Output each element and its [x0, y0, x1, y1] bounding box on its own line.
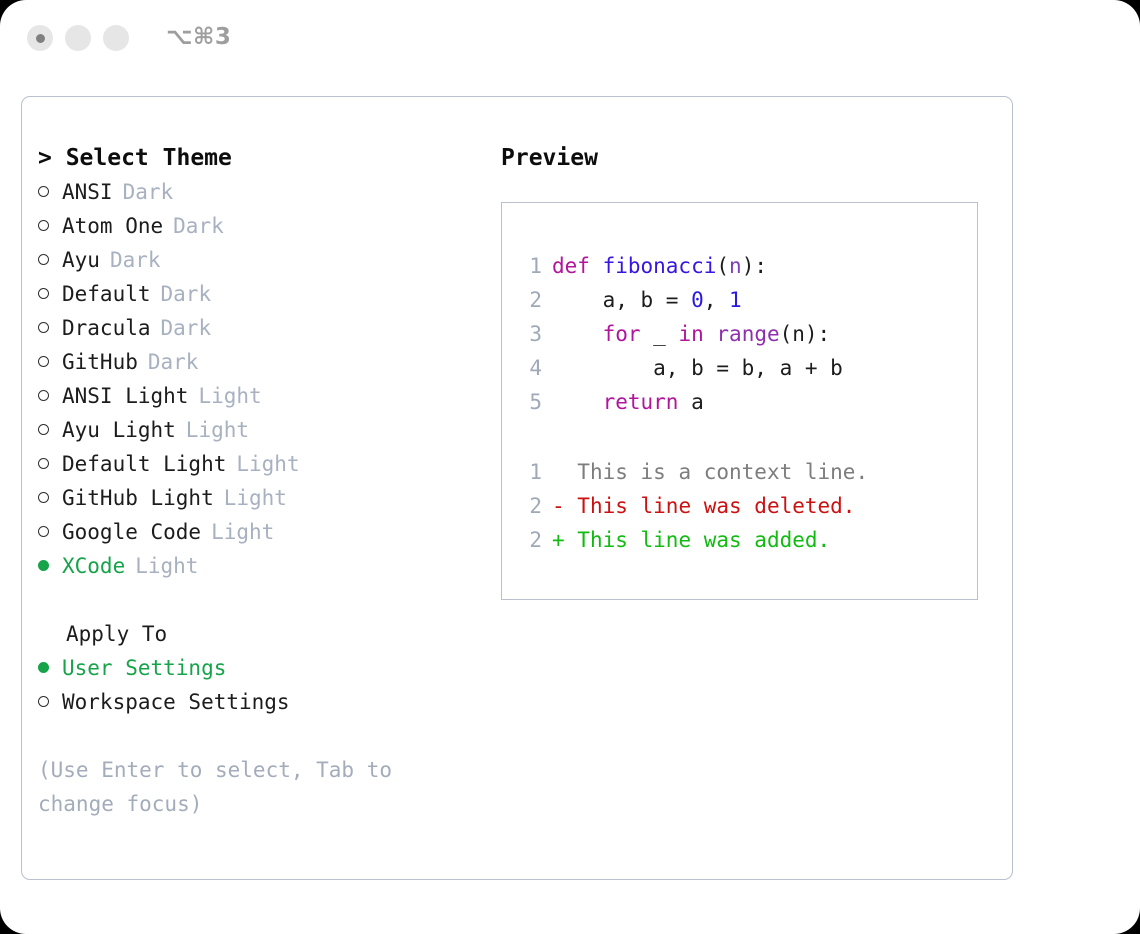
code-line-number: 2: [516, 283, 542, 317]
radio-dot: [38, 696, 49, 707]
diff-line-number: 2: [516, 489, 542, 523]
radio-dot: [38, 390, 49, 401]
code-line: 2 a, b = 0, 1: [516, 283, 969, 317]
diff-line-text: This is a context line.: [577, 455, 868, 489]
diff-line-text: This line was added.: [577, 523, 830, 557]
preview-header: Preview: [501, 141, 1001, 175]
window-dot-active-icon[interactable]: [27, 25, 53, 51]
theme-list-item[interactable]: ANSI LightLight: [38, 379, 478, 413]
list-spacer: [38, 583, 478, 617]
theme-list-item[interactable]: ANSIDark: [38, 175, 478, 209]
radio-unselected-icon: [38, 277, 62, 311]
theme-list-item[interactable]: GitHubDark: [38, 345, 478, 379]
theme-list-item[interactable]: Default LightLight: [38, 447, 478, 481]
code-line-text: def fibonacci(n):: [552, 249, 767, 283]
radio-dot: [38, 662, 49, 673]
hint-spacer: [38, 719, 478, 753]
theme-kind-badge: Light: [198, 379, 261, 413]
theme-name: XCode: [62, 549, 125, 583]
theme-kind-badge: Dark: [110, 243, 161, 277]
apply-to-list: User SettingsWorkspace Settings: [38, 651, 478, 719]
code-sample: 1def fibonacci(n):2 a, b = 0, 13 for _ i…: [516, 249, 969, 419]
radio-dot: [38, 186, 49, 197]
code-token-plain: ,: [704, 288, 729, 312]
radio-unselected-icon: [38, 685, 62, 719]
code-token-plain: (n):: [780, 322, 831, 346]
code-token-plain: [552, 390, 603, 414]
diff-marker: -: [552, 489, 577, 523]
apply-to-option[interactable]: Workspace Settings: [38, 685, 478, 719]
code-token-num: 0: [691, 288, 704, 312]
code-token-kw: in: [678, 322, 703, 346]
code-token-param: n: [729, 254, 742, 278]
select-theme-header: > Select Theme: [38, 141, 478, 175]
radio-unselected-icon: [38, 175, 62, 209]
radio-dot: [38, 560, 49, 571]
preview-box: 1def fibonacci(n):2 a, b = 0, 13 for _ i…: [501, 202, 978, 600]
theme-name: Google Code: [62, 515, 201, 549]
main-panel: > Select Theme ANSIDarkAtom OneDarkAyuDa…: [21, 96, 1013, 880]
theme-list-item[interactable]: AyuDark: [38, 243, 478, 277]
diff-line: 2- This line was deleted.: [516, 489, 969, 523]
code-token-plain: a: [678, 390, 703, 414]
apply-to-header: Apply To: [38, 617, 478, 651]
apply-to-option[interactable]: User Settings: [38, 651, 478, 685]
window-dot-third-icon[interactable]: [103, 25, 129, 51]
code-line-text: for _ in range(n):: [552, 317, 830, 351]
theme-name: Atom One: [62, 209, 163, 243]
radio-dot: [38, 356, 49, 367]
theme-kind-badge: Light: [236, 447, 299, 481]
theme-kind-badge: Dark: [161, 311, 212, 345]
radio-dot: [38, 254, 49, 265]
radio-unselected-icon: [38, 481, 62, 515]
theme-list-item[interactable]: Ayu LightLight: [38, 413, 478, 447]
theme-name: Ayu Light: [62, 413, 176, 447]
theme-kind-badge: Dark: [173, 209, 224, 243]
code-token-plain: a, b = b, a + b: [552, 356, 843, 380]
theme-kind-badge: Light: [135, 549, 198, 583]
theme-list-item[interactable]: Google CodeLight: [38, 515, 478, 549]
diff-sample: 1 This is a context line.2- This line wa…: [516, 455, 969, 557]
diff-line-number: 1: [516, 455, 542, 489]
radio-unselected-icon: [38, 345, 62, 379]
radio-unselected-icon: [38, 243, 62, 277]
code-token-plain: a, b =: [552, 288, 691, 312]
theme-name: GitHub: [62, 345, 138, 379]
code-token-builtin: range: [716, 322, 779, 346]
diff-line-text: This line was deleted.: [577, 489, 855, 523]
theme-kind-badge: Dark: [148, 345, 199, 379]
code-token-plain: _: [641, 322, 679, 346]
theme-list-item[interactable]: XCodeLight: [38, 549, 478, 583]
diff-line: 1 This is a context line.: [516, 455, 969, 489]
theme-name: Ayu: [62, 243, 100, 277]
radio-dot: [38, 526, 49, 537]
diff-line-number: 2: [516, 523, 542, 557]
code-token-fn: fibonacci: [603, 254, 717, 278]
radio-unselected-icon: [38, 311, 62, 345]
radio-dot: [38, 424, 49, 435]
code-token-kw: return: [603, 390, 679, 414]
theme-kind-badge: Light: [186, 413, 249, 447]
code-line: 1def fibonacci(n):: [516, 249, 969, 283]
window-controls: [27, 25, 129, 51]
theme-list-item[interactable]: Atom OneDark: [38, 209, 478, 243]
radio-dot: [38, 458, 49, 469]
code-token-plain: ):: [742, 254, 767, 278]
code-token-kw: for: [603, 322, 641, 346]
theme-kind-badge: Light: [211, 515, 274, 549]
theme-name: Default Light: [62, 447, 226, 481]
app-window: ⌥⌘3 > Select Theme ANSIDarkAtom OneDarkA…: [0, 0, 1140, 934]
window-dot-second-icon[interactable]: [65, 25, 91, 51]
code-line-number: 5: [516, 385, 542, 419]
code-line-number: 1: [516, 249, 542, 283]
code-line: 5 return a: [516, 385, 969, 419]
theme-name: Default: [62, 277, 151, 311]
diff-marker: +: [552, 523, 577, 557]
preview-column: Preview 1def fibonacci(n):2 a, b = 0, 13…: [501, 141, 1001, 600]
radio-selected-icon: [38, 651, 62, 685]
theme-name: ANSI: [62, 175, 113, 209]
code-token-kw: def: [552, 254, 603, 278]
theme-list-item[interactable]: DefaultDark: [38, 277, 478, 311]
radio-dot: [38, 288, 49, 299]
code-token-plain: [552, 322, 603, 346]
code-token-num: 1: [729, 288, 742, 312]
theme-name: ANSI Light: [62, 379, 188, 413]
radio-unselected-icon: [38, 209, 62, 243]
radio-selected-icon: [38, 549, 62, 583]
apply-to-label: Workspace Settings: [62, 685, 290, 719]
radio-unselected-icon: [38, 515, 62, 549]
window-dot-inner: [36, 34, 45, 43]
code-token-plain: [704, 322, 717, 346]
theme-name: GitHub Light: [62, 481, 214, 515]
code-line: 4 a, b = b, a + b: [516, 351, 969, 385]
radio-unselected-icon: [38, 413, 62, 447]
theme-name: Dracula: [62, 311, 151, 345]
theme-kind-badge: Dark: [123, 175, 174, 209]
diff-line: 2+ This line was added.: [516, 523, 969, 557]
radio-dot: [38, 322, 49, 333]
theme-list: ANSIDarkAtom OneDarkAyuDarkDefaultDarkDr…: [38, 175, 478, 583]
theme-selector-column: > Select Theme ANSIDarkAtom OneDarkAyuDa…: [38, 141, 478, 821]
theme-kind-badge: Dark: [161, 277, 212, 311]
theme-list-item[interactable]: DraculaDark: [38, 311, 478, 345]
code-line-text: a, b = b, a + b: [552, 351, 843, 385]
code-line-text: return a: [552, 385, 704, 419]
radio-dot: [38, 220, 49, 231]
radio-unselected-icon: [38, 379, 62, 413]
theme-kind-badge: Light: [224, 481, 287, 515]
diff-marker: [552, 455, 577, 489]
apply-to-label: User Settings: [62, 651, 226, 685]
title-bar: ⌥⌘3: [0, 0, 1140, 78]
radio-unselected-icon: [38, 447, 62, 481]
code-line-number: 3: [516, 317, 542, 351]
code-line: 3 for _ in range(n):: [516, 317, 969, 351]
keyboard-hint: (Use Enter to select, Tab to change focu…: [38, 753, 438, 821]
radio-dot: [38, 492, 49, 503]
keyboard-shortcut-label: ⌥⌘3: [166, 24, 231, 50]
code-token-plain: (: [716, 254, 729, 278]
code-line-text: a, b = 0, 1: [552, 283, 742, 317]
code-line-number: 4: [516, 351, 542, 385]
theme-list-item[interactable]: GitHub LightLight: [38, 481, 478, 515]
